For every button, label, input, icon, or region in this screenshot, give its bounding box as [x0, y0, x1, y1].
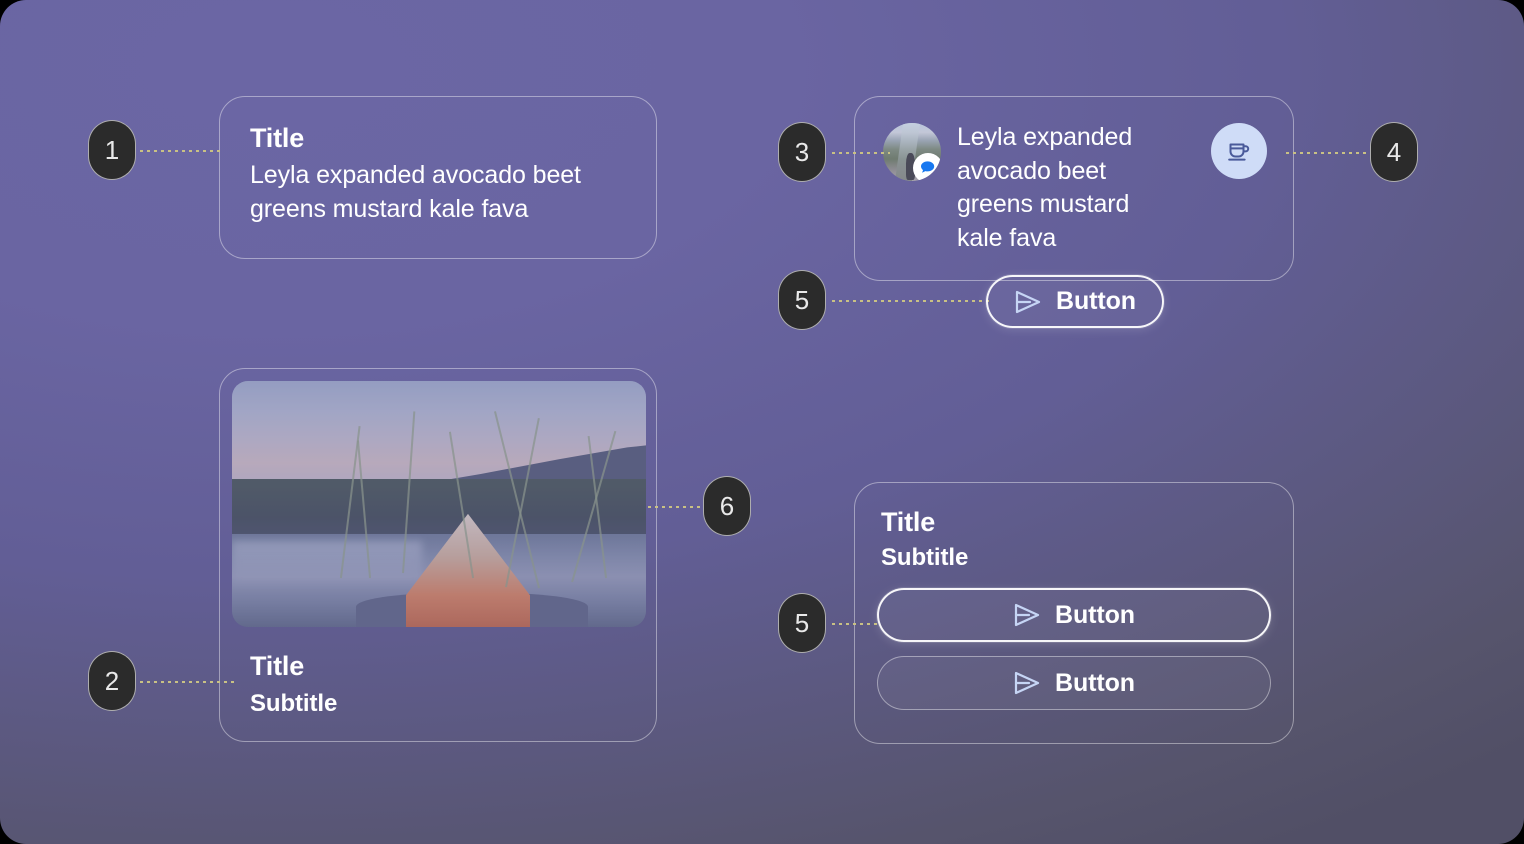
avatar[interactable]: [883, 123, 941, 181]
send-icon: [1014, 289, 1042, 315]
text-card-body: Leyla expanded avocado beet greens musta…: [250, 159, 626, 226]
list-card-button-primary[interactable]: Button: [877, 588, 1271, 642]
list-card[interactable]: Title Subtitle Button Button: [854, 482, 1294, 744]
coffee-cup-icon[interactable]: [1211, 123, 1267, 179]
media-card-image: [232, 381, 646, 627]
annotated-ui-canvas: 1 2 3 4 5 5 6 Title Leyla expanded avoca…: [0, 0, 1524, 844]
avatar-card-button[interactable]: Button: [986, 275, 1164, 328]
marker-badge-label: 4: [1387, 137, 1401, 168]
list-card-subtitle: Subtitle: [881, 544, 1271, 572]
connector-line-5b: [832, 623, 880, 625]
connector-line-2: [140, 681, 238, 683]
connector-line-5a: [832, 300, 990, 302]
avatar-card-row: Leyla expanded avocado beet greens musta…: [883, 121, 1265, 255]
marker-badge-label: 1: [105, 135, 119, 166]
connector-line-6: [648, 506, 706, 508]
list-card-button-label: Button: [1055, 601, 1135, 630]
connector-line-1: [140, 150, 222, 152]
avatar-card[interactable]: Leyla expanded avocado beet greens musta…: [854, 96, 1294, 281]
marker-badge-5-bottom[interactable]: 5: [778, 593, 826, 653]
marker-badge-4[interactable]: 4: [1370, 122, 1418, 182]
image-tint-overlay: [232, 381, 646, 627]
marker-badge-1[interactable]: 1: [88, 120, 136, 180]
list-card-button-secondary[interactable]: Button: [877, 656, 1271, 710]
marker-badge-2[interactable]: 2: [88, 651, 136, 711]
list-card-title: Title: [881, 507, 1271, 538]
text-card-title: Title: [250, 123, 626, 154]
media-card-title: Title: [250, 651, 626, 682]
marker-badge-label: 6: [720, 491, 734, 522]
media-card-caption: Title Subtitle: [232, 627, 644, 718]
marker-badge-label: 2: [105, 666, 119, 697]
avatar-card-button-label: Button: [1056, 287, 1136, 316]
text-card[interactable]: Title Leyla expanded avocado beet greens…: [219, 96, 657, 259]
marker-badge-5-top[interactable]: 5: [778, 270, 826, 330]
media-card[interactable]: Title Subtitle: [219, 368, 657, 742]
marker-badge-label: 5: [795, 285, 809, 316]
connector-line-4: [1286, 152, 1368, 154]
send-icon: [1013, 670, 1041, 696]
marker-badge-label: 5: [795, 608, 809, 639]
chat-bubble-icon: [913, 153, 941, 181]
list-card-button-label: Button: [1055, 669, 1135, 698]
avatar-card-body: Leyla expanded avocado beet greens musta…: [957, 121, 1167, 255]
marker-badge-3[interactable]: 3: [778, 122, 826, 182]
connector-line-3: [832, 152, 890, 154]
marker-badge-6[interactable]: 6: [703, 476, 751, 536]
media-card-subtitle: Subtitle: [250, 690, 626, 718]
send-icon: [1013, 602, 1041, 628]
marker-badge-label: 3: [795, 137, 809, 168]
